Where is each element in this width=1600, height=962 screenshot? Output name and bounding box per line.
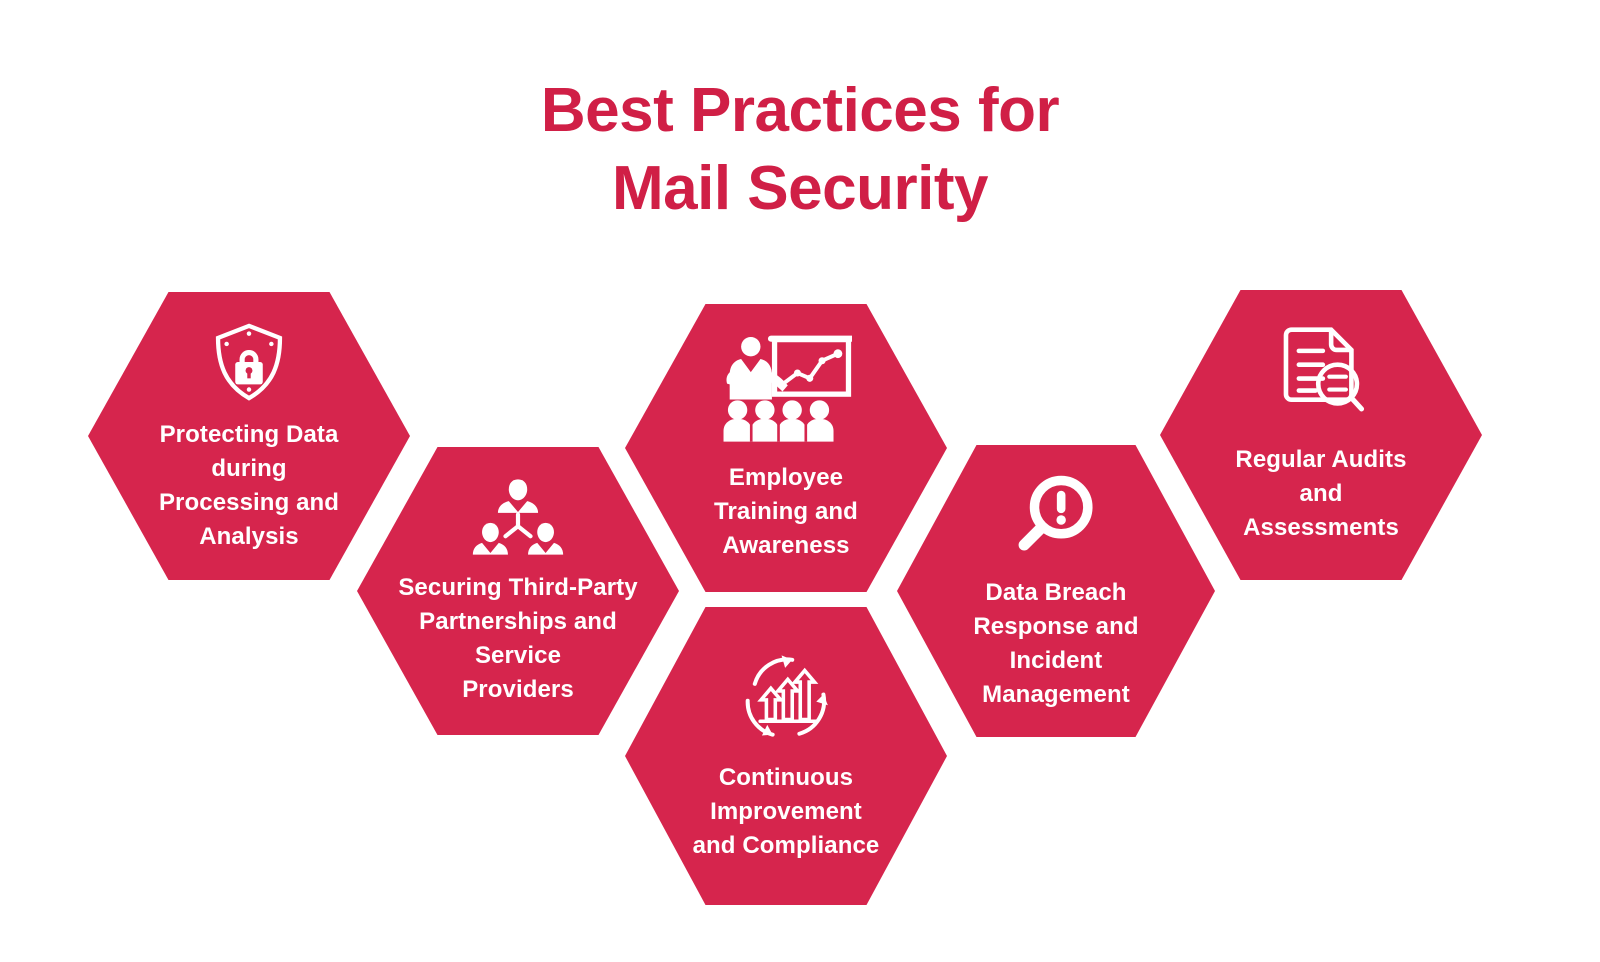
hexagon-label: Employee Training and Awareness <box>693 461 880 563</box>
title-line-1: Best Practices for <box>0 72 1600 150</box>
hexagon-protecting-data[interactable]: Protecting Data during Processing and An… <box>88 292 410 580</box>
shield-lock-icon <box>206 319 292 410</box>
hexagon-label: Data Breach Response and Incident Manage… <box>957 576 1154 712</box>
hexagon-label: Regular Audits and Assessments <box>1221 443 1421 545</box>
hexagon-label: Securing Third-Party Partnerships and Se… <box>386 571 650 707</box>
title-line-2: Mail Security <box>0 150 1600 228</box>
hexagon-label: Protecting Data during Processing and An… <box>149 418 349 554</box>
hexagon-continuous-improvement[interactable]: Continuous Improvement and Compliance <box>625 607 947 905</box>
hexagon-third-party[interactable]: Securing Third-Party Partnerships and Se… <box>357 447 679 735</box>
cycle-growth-arrows-icon <box>737 650 835 753</box>
hexagon-data-breach[interactable]: Data Breach Response and Incident Manage… <box>897 445 1215 737</box>
hexagon-regular-audits[interactable]: Regular Audits and Assessments <box>1160 290 1482 580</box>
hexagon-label: Continuous Improvement and Compliance <box>673 761 898 863</box>
page-title: Best Practices for Mail Security <box>0 72 1600 228</box>
infographic-canvas: Best Practices for Mail Security Protect… <box>0 0 1600 962</box>
hexagon-employee-training[interactable]: Employee Training and Awareness <box>625 304 947 592</box>
magnifier-alert-icon <box>1013 471 1099 562</box>
presentation-audience-icon <box>720 334 852 447</box>
people-network-icon <box>472 476 564 563</box>
document-magnifier-icon <box>1273 326 1369 425</box>
